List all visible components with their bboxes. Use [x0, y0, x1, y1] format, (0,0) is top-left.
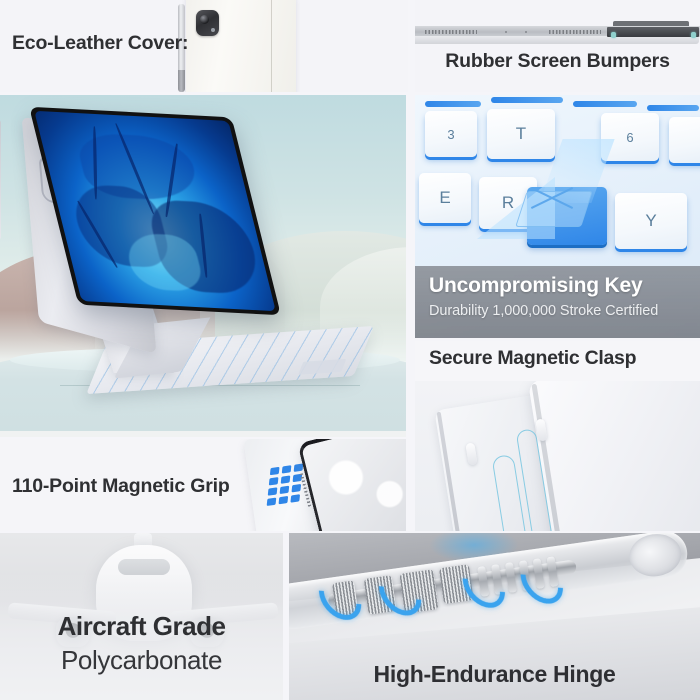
- rubber-bumpers-label: Rubber Screen Bumpers: [415, 50, 700, 73]
- key-caption-overlay: Uncompromising Key Durability 1,000,000 …: [415, 266, 700, 338]
- panel-aircraft-grade: Aircraft Grade Polycarbonate: [0, 533, 283, 700]
- camera-module-icon: [196, 10, 219, 36]
- rubber-bumper-icon: [611, 32, 616, 38]
- key-durability-title: Uncompromising Key: [429, 274, 642, 298]
- key-6[interactable]: 6: [601, 113, 659, 161]
- panel-eco-leather-cover: Eco-Leather Cover:: [0, 0, 408, 92]
- key-edge: [491, 97, 563, 103]
- side-profile-image: [415, 24, 700, 46]
- speaker-grille-icon: [549, 30, 601, 34]
- key-e[interactable]: E: [419, 173, 471, 223]
- aircraft-grade-title: Aircraft Grade: [0, 611, 283, 642]
- rubber-bumper-icon: [691, 32, 696, 38]
- panel-rubber-screen-bumpers: Rubber Screen Bumpers: [415, 0, 700, 92]
- stylus-tip-icon: [178, 70, 185, 92]
- device-bottom-shell: [415, 36, 699, 44]
- device-dark-section: [607, 27, 699, 37]
- key-y[interactable]: Y: [615, 193, 687, 249]
- hinge-label: High-Endurance Hinge: [289, 661, 700, 688]
- frost-wallpaper: [301, 439, 406, 531]
- key-3[interactable]: 3: [425, 111, 477, 157]
- key-t[interactable]: T: [487, 109, 555, 159]
- panel-magnetic-grip: 110-Point Magnetic Grip: [0, 439, 406, 531]
- clasp-photo: [415, 381, 700, 531]
- cover-flap-front: [528, 381, 700, 531]
- panel-high-endurance-hinge: High-Endurance Hinge: [289, 533, 700, 700]
- product-infographic: Eco-Leather Cover: Rubber Screen Bumpers: [0, 0, 700, 700]
- speaker-grille-icon: [425, 30, 477, 34]
- key-edge: [647, 105, 699, 111]
- panel-magnetic-clasp: Secure Magnetic Clasp: [415, 341, 700, 531]
- tablet-side-edge: [0, 118, 1, 240]
- key-edge: [425, 101, 481, 107]
- scissor-switch-diagram: [511, 173, 597, 235]
- key-right-edge[interactable]: [669, 117, 700, 163]
- panel-key-durability: 3 T 6 E R Y Uncompromising Key Durabilit…: [415, 95, 700, 338]
- port-dot-icon: [505, 31, 507, 33]
- key-durability-subtitle: Durability 1,000,000 Stroke Certified: [429, 303, 658, 319]
- eco-leather-label: Eco-Leather Cover:: [12, 32, 188, 55]
- key-edge: [573, 101, 637, 107]
- magnetic-grip-label: 110-Point Magnetic Grip: [12, 475, 230, 498]
- port-dot-icon: [525, 31, 527, 33]
- panel-hero-tablet-stand: [0, 95, 406, 437]
- magnetic-clasp-label: Secure Magnetic Clasp: [429, 347, 636, 370]
- aircraft-grade-subtitle: Polycarbonate: [0, 645, 283, 676]
